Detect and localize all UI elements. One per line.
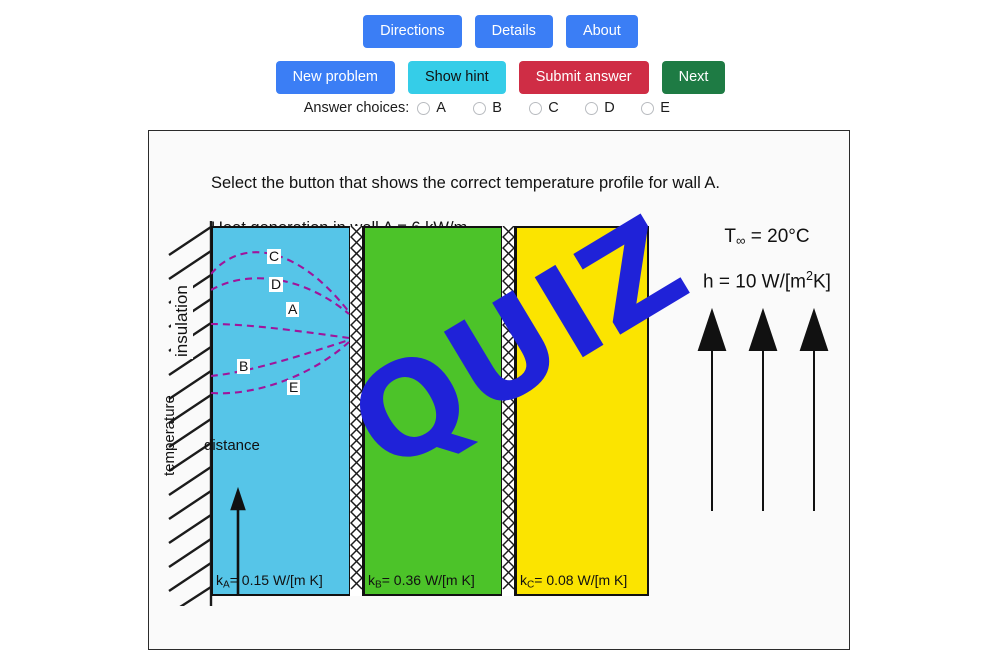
curve-label-d: D (269, 277, 283, 292)
radio-icon-c[interactable] (529, 102, 542, 115)
action-button-row: New problem Show hint Submit answer Next (0, 61, 1001, 94)
answer-letter-b: B (492, 100, 502, 116)
new-problem-button[interactable]: New problem (276, 61, 395, 94)
radio-icon-b[interactable] (473, 102, 486, 115)
answer-choices-row: Answer choices: A B C D E (0, 100, 1001, 116)
answer-letter-c: C (548, 100, 558, 116)
wall-c-conductivity-label: kC= 0.08 W/[m K] (520, 572, 627, 591)
insulation-label: insulation (171, 283, 193, 359)
answer-letter-a: A (436, 100, 446, 116)
curve-label-e: E (287, 380, 300, 395)
info-button-row: Directions Details About (0, 15, 1001, 48)
curve-label-a: A (286, 302, 299, 317)
answer-choice-c[interactable]: C (529, 100, 585, 116)
wall-b: kB= 0.36 W/[m K] (363, 226, 503, 596)
curve-label-c: C (267, 249, 281, 264)
convection-coefficient-label: h = 10 W/[m2K] (669, 269, 865, 293)
contact-resistance-strip-bc (501, 226, 515, 596)
contact-resistance-strip-ab (349, 226, 363, 596)
curve-label-b: B (237, 359, 250, 374)
answer-choice-e[interactable]: E (641, 100, 697, 116)
temperature-axis-label: temperature (161, 395, 178, 476)
ambient-temperature-label: T∞ = 20°C (687, 226, 847, 248)
radio-icon-e[interactable] (641, 102, 654, 115)
insulation-hatch-icon (149, 221, 215, 606)
wall-c: kC= 0.08 W/[m K] (515, 226, 649, 596)
figure-panel: Select the button that shows the correct… (148, 130, 850, 650)
radio-icon-a[interactable] (417, 102, 430, 115)
answer-letter-d: D (604, 100, 614, 116)
show-hint-button[interactable]: Show hint (408, 61, 506, 94)
answer-choice-a[interactable]: A (417, 100, 473, 116)
answer-choice-b[interactable]: B (473, 100, 529, 116)
convection-arrows (669, 306, 859, 511)
next-button[interactable]: Next (662, 61, 726, 94)
details-button[interactable]: Details (475, 15, 553, 48)
answer-choice-d[interactable]: D (585, 100, 641, 116)
submit-answer-button[interactable]: Submit answer (519, 61, 649, 94)
problem-line-1: Select the button that shows the correct… (211, 172, 841, 195)
radio-icon-d[interactable] (585, 102, 598, 115)
answer-choices-label: Answer choices: (304, 100, 410, 116)
about-button[interactable]: About (566, 15, 638, 48)
wall-a-conductivity-label: kA= 0.15 W/[m K] (216, 572, 323, 591)
directions-button[interactable]: Directions (363, 15, 461, 48)
wall-b-conductivity-label: kB= 0.36 W/[m K] (368, 572, 475, 591)
answer-letter-e: E (660, 100, 670, 116)
distance-axis-label: distance (204, 437, 260, 454)
